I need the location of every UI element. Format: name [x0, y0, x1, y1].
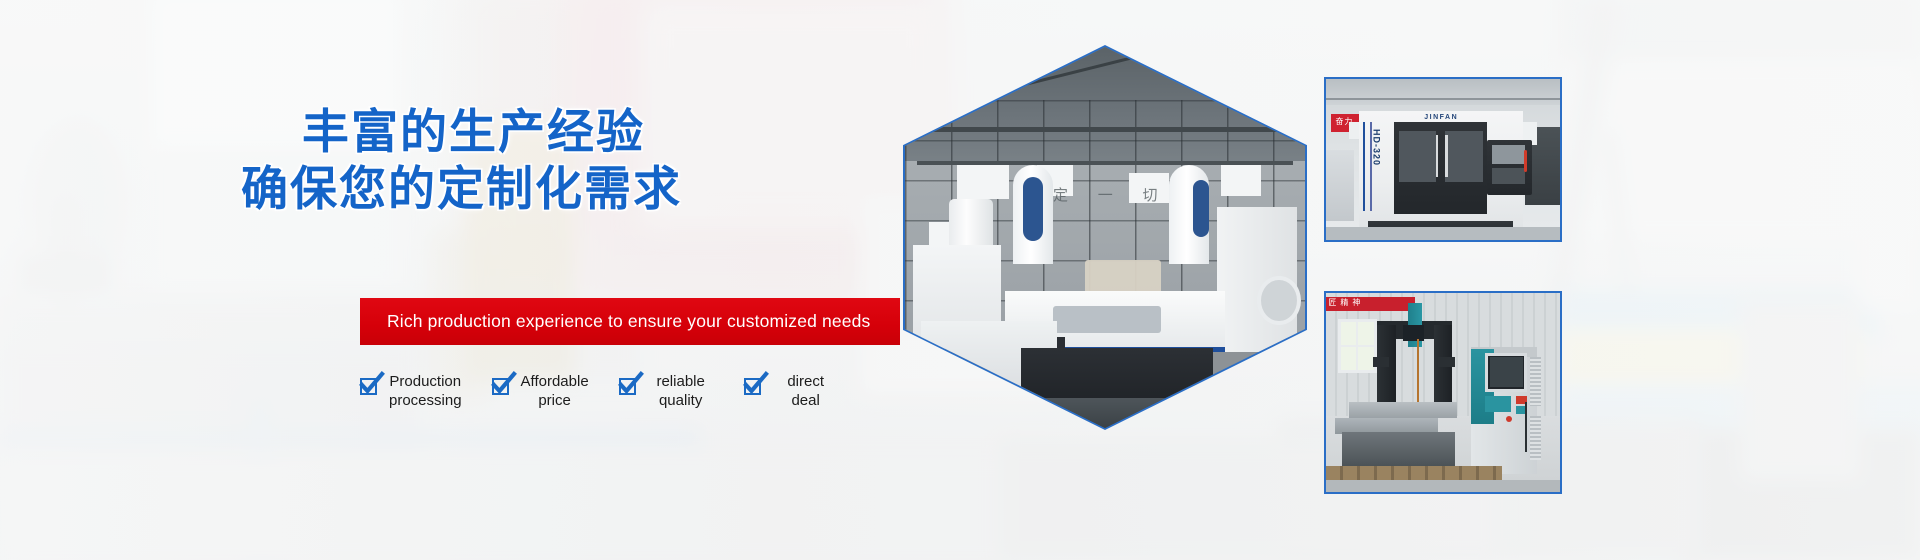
machine-brand-label: JINFAN: [1424, 114, 1458, 121]
thumbnail-machining-center[interactable]: 奋力 HD-320 JINFAN: [1324, 77, 1562, 242]
thumbnail-2-wall-banner-text: 匠 精 神: [1328, 297, 1361, 308]
thumbnail-edm-machine[interactable]: 匠 精 神: [1324, 291, 1562, 494]
feature-item-direct-deal[interactable]: direct deal: [744, 372, 839, 410]
hexagon-factory-machine-photo[interactable]: 定 一 切: [903, 45, 1307, 430]
feature-label: Affordable price: [521, 372, 589, 410]
hero-banner: 丰富的生产经验 确保您的定制化需求 Rich production experi…: [0, 0, 1920, 560]
feature-item-production-processing[interactable]: Production processing: [360, 372, 462, 410]
feature-item-reliable-quality[interactable]: reliable quality: [619, 372, 714, 410]
checkbox-checked-icon[interactable]: [492, 378, 509, 395]
headline-line-1: 丰富的生产经验: [0, 105, 700, 162]
subtitle-text: Rich production experience to ensure you…: [360, 311, 870, 332]
feature-list: Production processing Affordable price r…: [360, 372, 869, 410]
page-title: 丰富的生产经验 确保您的定制化需求: [0, 105, 700, 219]
subtitle-bar: Rich production experience to ensure you…: [360, 298, 900, 345]
machine-model-label: HD-320: [1372, 129, 1382, 166]
headline-line-2: 确保您的定制化需求: [0, 162, 700, 219]
checkbox-checked-icon[interactable]: [744, 378, 761, 395]
checkbox-checked-icon[interactable]: [619, 378, 636, 395]
feature-label: reliable quality: [648, 372, 714, 410]
hero-wall-caption: 定 一 切: [1053, 184, 1171, 205]
feature-label: Production processing: [389, 372, 462, 410]
checkbox-checked-icon[interactable]: [360, 378, 377, 395]
feature-label: direct deal: [773, 372, 839, 410]
feature-item-affordable-price[interactable]: Affordable price: [492, 372, 589, 410]
